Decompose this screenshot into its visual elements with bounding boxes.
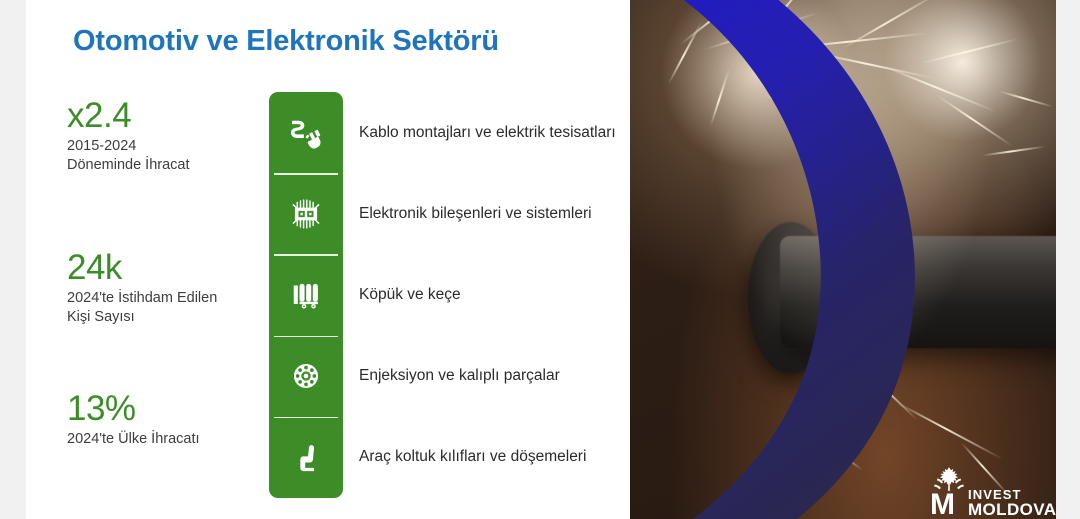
logo-line-moldova: MOLDOVA <box>968 501 1056 518</box>
stat-caption-line1: 2024'te İstihdam Edilen <box>67 289 217 308</box>
sector-icon-cell-electronics <box>269 173 343 254</box>
stat-employment: 24k 2024'te İstihdam Edilen Kişi Sayısı <box>67 249 217 327</box>
stat-caption-line1: 2015-2024 <box>67 137 190 156</box>
logo-line-invest: INVEST <box>968 488 1056 501</box>
sector-icon-cell-injection <box>269 336 343 417</box>
logo-monogram: M <box>930 490 955 519</box>
foam-rolls-icon <box>287 276 325 314</box>
page-title: Otomotiv ve Elektronik Sektörü <box>73 25 499 58</box>
stat-caption-line2: Döneminde İhracat <box>67 156 190 175</box>
industrial-grinding-sparks-photo <box>630 0 1056 519</box>
sector-label-electronics: Elektronik bileşenleri ve sistemleri <box>359 173 592 254</box>
sector-icon-cell-cable <box>269 92 343 173</box>
stat-country-export-share: 13% 2024'te Ülke İhracatı <box>67 390 200 449</box>
stat-caption: 2024'te İstihdam Edilen Kişi Sayısı <box>67 289 217 327</box>
stat-value: 13% <box>67 390 200 428</box>
photo-glow <box>630 0 1056 519</box>
sector-icon-cell-car-seat <box>269 417 343 498</box>
slide-root: Otomotiv ve Elektronik Sektörü x2.4 2015… <box>0 0 1080 519</box>
stat-caption-line2: Kişi Sayısı <box>67 308 217 327</box>
car-seat-icon <box>289 440 323 474</box>
microchip-icon <box>287 195 325 233</box>
stat-value: x2.4 <box>67 97 190 135</box>
power-cable-plug-icon <box>287 114 325 152</box>
slide-canvas: Otomotiv ve Elektronik Sektörü x2.4 2015… <box>26 0 1056 519</box>
logo-wordmark: INVEST MOLDOVA <box>968 488 1056 519</box>
sector-icon-column <box>269 92 343 498</box>
stat-export-growth: x2.4 2015-2024 Döneminde İhracat <box>67 97 190 175</box>
stat-value: 24k <box>67 249 217 287</box>
stat-caption: 2024'te Ülke İhracatı <box>67 430 200 449</box>
injection-mold-disc-icon <box>289 359 323 393</box>
stat-caption-line1: 2024'te Ülke İhracatı <box>67 430 200 449</box>
sector-label-injection: Enjeksiyon ve kalıplı parçalar <box>359 336 560 417</box>
sector-label-foam: Köpük ve keçe <box>359 254 461 335</box>
sector-label-cable: Kablo montajları ve elektrik tesisatları <box>359 92 616 173</box>
sector-label-car-seat: Araç koltuk kılıfları ve döşemeleri <box>359 417 586 498</box>
stat-caption: 2015-2024 Döneminde İhracat <box>67 137 190 175</box>
invest-moldova-logo: M INVEST MOLDOVA <box>920 466 1040 519</box>
sector-icon-cell-foam <box>269 254 343 335</box>
sector-label-list: Kablo montajları ve elektrik tesisatları… <box>359 92 689 498</box>
